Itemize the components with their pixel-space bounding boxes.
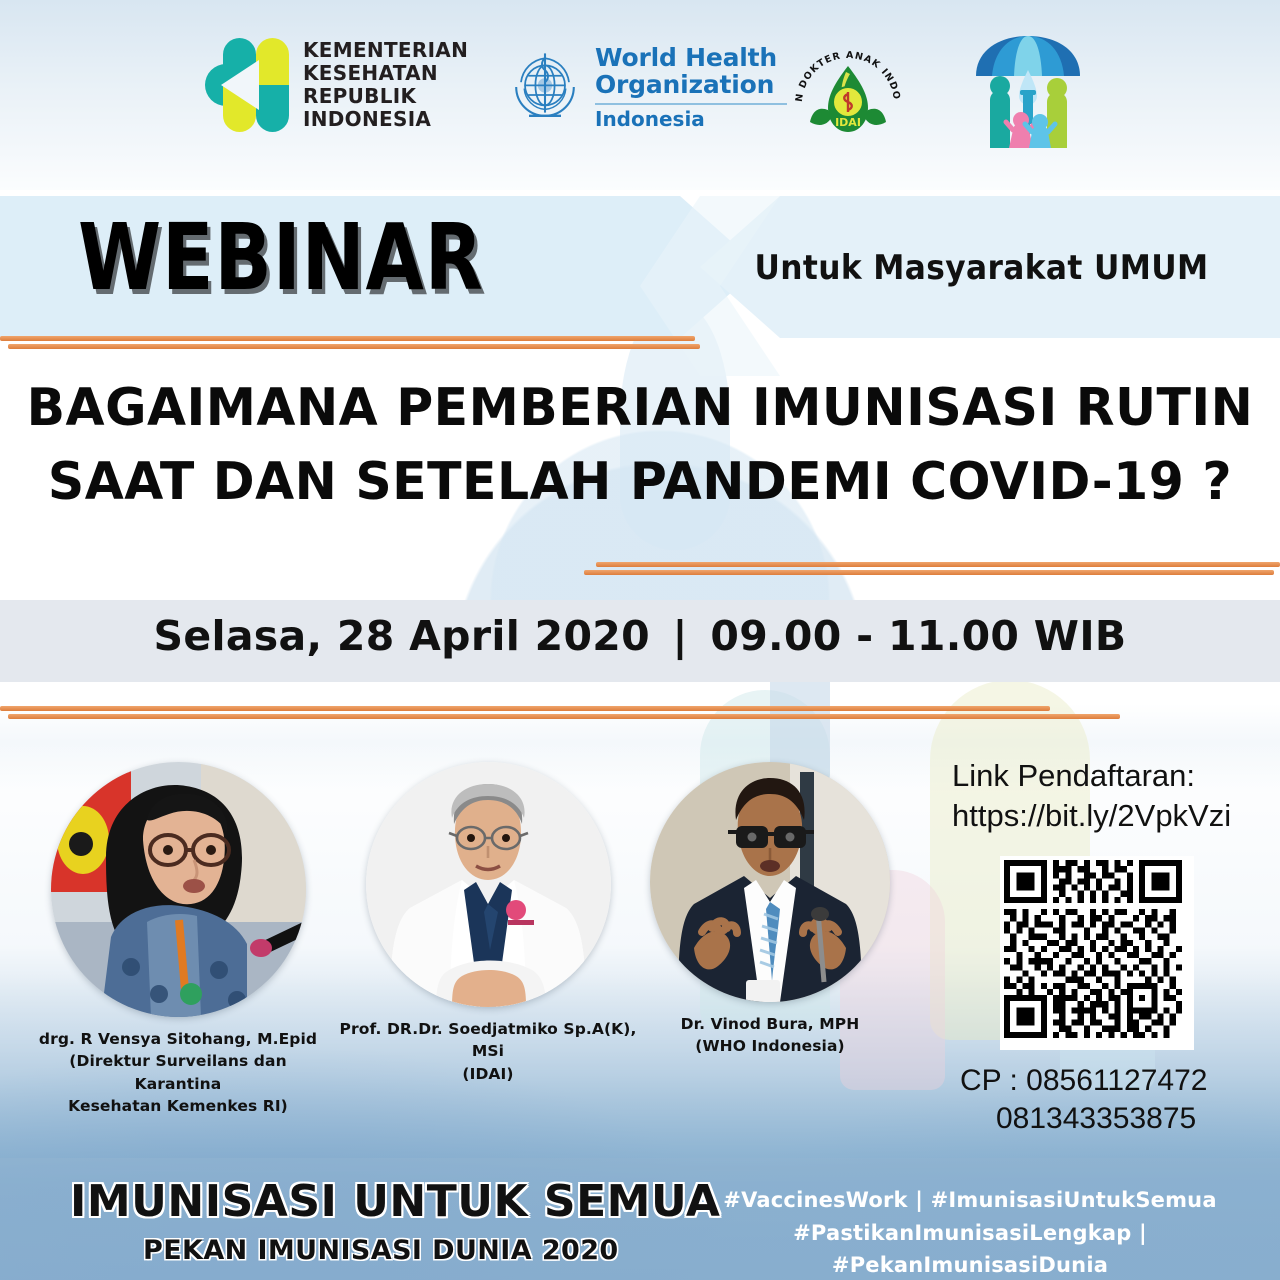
speaker-affiliation-1: (WHO Indonesia) <box>630 1035 910 1057</box>
hashtags-line-2: #PastikanImunisasiLengkap | #PekanImunis… <box>700 1217 1240 1280</box>
headline-line-1: BAGAIMANA PEMBERIAN IMUNISASI RUTIN <box>19 372 1261 446</box>
kemenkes-mark-icon <box>205 38 289 132</box>
contact-line-2: 081343353875 <box>960 1100 1280 1138</box>
speaker-list: drg. R Vensya Sitohang, M.Epid (Direktur… <box>0 762 900 1122</box>
webinar-poster: KEMENTERIAN KESEHATAN REPUBLIK INDONESIA <box>0 0 1280 1280</box>
schedule-text: Selasa, 28 April 2020 | 09.00 - 11.00 WI… <box>0 612 1280 660</box>
speaker-photo-vensya <box>51 762 306 1017</box>
who-wordmark: World Health Organization Indonesia <box>595 44 787 129</box>
divider-bottom <box>0 706 1120 718</box>
speaker-caption: Dr. Vinod Bura, MPH (WHO Indonesia) <box>630 1013 910 1058</box>
footer-subtitle: PEKAN IMUNISASI DUNIA 2020 <box>143 1235 619 1266</box>
kemenkes-line-4: INDONESIA <box>303 108 468 131</box>
speaker-card: Dr. Vinod Bura, MPH (WHO Indonesia) <box>630 762 910 1058</box>
hashtags-line-1: #VaccinesWork | #ImunisasiUntukSemua <box>700 1184 1240 1217</box>
footer-hashtags: #VaccinesWork | #ImunisasiUntukSemua #Pa… <box>700 1184 1240 1280</box>
speaker-card: Prof. DR.Dr. Soedjatmiko Sp.A(K), MSi (I… <box>338 762 638 1085</box>
who-line-2: Organization <box>595 71 787 98</box>
who-emblem-icon <box>505 47 585 127</box>
registration-label: Link Pendaftaran: <box>952 756 1272 796</box>
headline: BAGAIMANA PEMBERIAN IMUNISASI RUTIN SAAT… <box>0 372 1280 520</box>
family-umbrella-icon <box>968 30 1088 160</box>
registration-info: Link Pendaftaran: https://bit.ly/2VpkVzi <box>952 756 1272 837</box>
speaker-affiliation-1: (Direktur Surveilans dan Karantina <box>28 1050 328 1095</box>
svg-text:IDAI: IDAI <box>835 116 861 129</box>
speaker-photo-vinod <box>650 762 890 1002</box>
footer-slogan: IMUNISASI UNTUK SEMUA <box>70 1176 720 1227</box>
speaker-caption: Prof. DR.Dr. Soedjatmiko Sp.A(K), MSi (I… <box>338 1018 638 1085</box>
registration-qr-code[interactable] <box>1000 856 1194 1050</box>
who-logo: World Health Organization Indonesia <box>505 44 787 129</box>
speaker-card: drg. R Vensya Sitohang, M.Epid (Direktur… <box>28 762 328 1118</box>
contact-line-1: CP : 08561127472 <box>960 1062 1280 1100</box>
speaker-photo-soedjatmiko <box>366 762 611 1007</box>
speaker-name: Prof. DR.Dr. Soedjatmiko Sp.A(K), MSi <box>338 1018 638 1063</box>
schedule-separator: | <box>665 612 696 660</box>
registration-url[interactable]: https://bit.ly/2VpkVzi <box>952 796 1272 836</box>
speaker-affiliation-2: Kesehatan Kemenkes RI) <box>28 1095 328 1117</box>
idai-logo: IKATAN DOKTER ANAK INDONESIA IDAI <box>788 36 908 156</box>
kemenkes-logo: KEMENTERIAN KESEHATAN REPUBLIK INDONESIA <box>205 38 468 132</box>
logo-row: KEMENTERIAN KESEHATAN REPUBLIK INDONESIA <box>0 0 1280 190</box>
divider-middle <box>584 562 1280 574</box>
contact-info: CP : 08561127472 081343353875 <box>960 1062 1280 1137</box>
speaker-affiliation-1: (IDAI) <box>338 1063 638 1085</box>
speaker-name: Dr. Vinod Bura, MPH <box>630 1013 910 1035</box>
who-divider <box>595 103 787 105</box>
kemenkes-line-2: KESEHATAN <box>303 62 468 85</box>
who-country: Indonesia <box>595 109 787 129</box>
kemenkes-line-1: KEMENTERIAN <box>303 39 468 62</box>
event-date: Selasa, 28 April 2020 <box>154 612 650 660</box>
divider-top <box>0 336 700 348</box>
audience-label: Untuk Masyarakat UMUM <box>754 248 1208 288</box>
page-title: WEBINAR <box>78 212 484 304</box>
speaker-name: drg. R Vensya Sitohang, M.Epid <box>28 1028 328 1050</box>
headline-line-2: SAAT DAN SETELAH PANDEMI COVID-19 ? <box>19 446 1261 520</box>
who-line-1: World Health <box>595 44 787 71</box>
kemenkes-line-3: REPUBLIK <box>303 85 468 108</box>
event-time: 09.00 - 11.00 WIB <box>710 612 1126 660</box>
kemenkes-wordmark: KEMENTERIAN KESEHATAN REPUBLIK INDONESIA <box>303 39 468 132</box>
speaker-caption: drg. R Vensya Sitohang, M.Epid (Direktur… <box>28 1028 328 1118</box>
